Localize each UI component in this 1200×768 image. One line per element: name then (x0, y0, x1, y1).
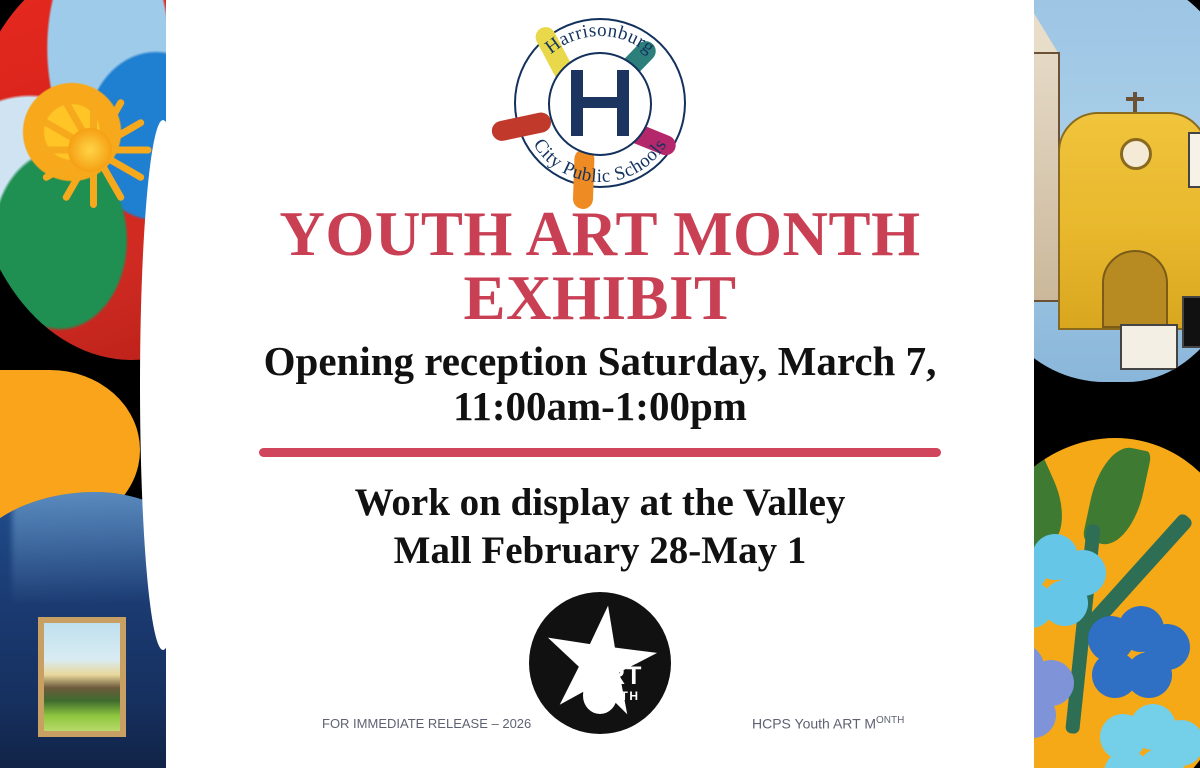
reception-time-line: 11:00am-1:00pm (200, 384, 1000, 430)
exhibit-location-line: Work on display at the Valley (240, 479, 960, 527)
footer-immediate-release: FOR IMMEDIATE RELEASE – 2026 (322, 716, 531, 731)
exhibit-dates-line: Mall February 28-May 1 (240, 527, 960, 575)
svg-text:City Public Schools: City Public Schools (529, 135, 671, 187)
poster-canvas: Harrisonburg City Public Schools YOUTH A… (0, 0, 1200, 768)
page-title: YOUTH ART MONTH EXHIBIT (220, 202, 980, 331)
footer-left-text: FOR IMMEDIATE RELEASE – 2026 (322, 716, 531, 731)
yam-logo-line-2: ART (588, 664, 674, 689)
exhibit-details: Work on display at the Valley Mall Febru… (240, 479, 960, 574)
yam-logo-line-3: MONTH (588, 689, 674, 703)
hcps-logo: Harrisonburg City Public Schools (514, 18, 686, 188)
headline-line-1: YOUTH ART MONTH (220, 202, 980, 266)
headline-line-2: EXHIBIT (220, 266, 980, 330)
hcps-logo-arc-text: Harrisonburg City Public Schools (514, 18, 686, 188)
footer-hcps-youth-art-month: HCPS Youth ART MONTH (752, 715, 904, 732)
footer-right-text: HCPS Youth ART M (752, 716, 876, 732)
reception-date-line: Opening reception Saturday, March 7, (200, 339, 1000, 385)
youth-art-month-logo: YOUTH ART MONTH (520, 588, 680, 738)
hcps-logo-bottom-text: City Public Schools (529, 135, 671, 187)
section-divider (259, 448, 941, 457)
svg-text:Harrisonburg: Harrisonburg (541, 20, 658, 58)
reception-details: Opening reception Saturday, March 7, 11:… (200, 339, 1000, 431)
poster-content: Harrisonburg City Public Schools YOUTH A… (0, 0, 1200, 768)
hcps-logo-top-text: Harrisonburg (541, 20, 658, 58)
footer-right-superscript: ONTH (876, 715, 904, 726)
